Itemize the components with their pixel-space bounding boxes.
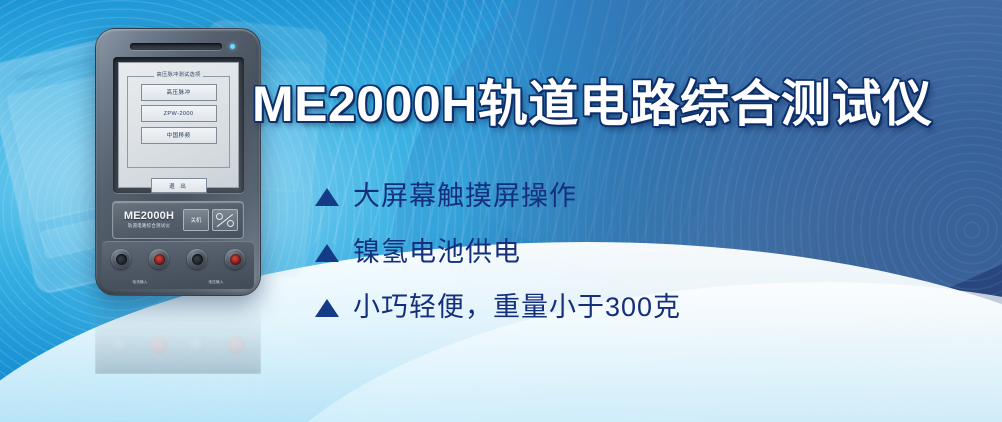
jack-label-row: 电流输入 电压输入 (102, 280, 254, 285)
lcd-button-high-voltage-pulse[interactable]: 高压脉冲 (141, 84, 217, 101)
jack-current-input-positive[interactable] (149, 249, 169, 269)
jack-voltage-input-negative[interactable] (187, 249, 207, 269)
lcd-screen[interactable]: 高压脉冲测试选项 高压脉冲 ZPW-2000 中国移频 退 出 (118, 62, 239, 188)
feature-item-3-label: 小巧轻便，重量小于300克 (353, 293, 681, 323)
feature-list: 大屏幕触摸屏操作 镍氢电池供电 小巧轻便，重量小于300克 (315, 182, 875, 349)
triangle-up-icon (315, 244, 339, 262)
jack-hole (192, 254, 203, 265)
lcd-button-china-frequency-shift[interactable]: 中国移频 (141, 127, 217, 144)
device-label-plate: ME2000H 轨道电路综合测试仪 关机 (112, 201, 244, 239)
device-model-text: ME2000H (118, 211, 180, 222)
lcd-bezel: 高压脉冲测试选项 高压脉冲 ZPW-2000 中国移频 退 出 (113, 57, 244, 193)
triangle-up-icon (315, 188, 339, 206)
jack-voltage-input-positive[interactable] (225, 249, 245, 269)
feature-item-1-label: 大屏幕触摸屏操作 (353, 182, 577, 212)
triangle-up-icon (315, 299, 339, 317)
page-title: ME2000H轨道电路综合测试仪 (252, 79, 932, 129)
jack-label-current-input: 电流输入 (108, 280, 172, 285)
feature-item-2-label: 镍氢电池供电 (353, 238, 521, 268)
device-subtitle-text: 轨道电路综合测试仪 (118, 224, 180, 228)
feature-item-1: 大屏幕触摸屏操作 (315, 182, 875, 212)
product-device-image: 高压脉冲测试选项 高压脉冲 ZPW-2000 中国移频 退 出 ME2000H … (95, 28, 261, 296)
jack-label-voltage-input: 电压输入 (184, 280, 248, 285)
device-brand-block: ME2000H 轨道电路综合测试仪 (118, 211, 180, 228)
jack-current-input-negative[interactable] (111, 249, 131, 269)
device-jack-panel: 电流输入 电压输入 (102, 241, 254, 289)
icon-dot-upper (216, 213, 223, 220)
feature-item-3: 小巧轻便，重量小于300克 (315, 293, 875, 323)
lcd-group-title: 高压脉冲测试选项 (154, 71, 204, 78)
device-body: 高压脉冲测试选项 高压脉冲 ZPW-2000 中国移频 退 出 ME2000H … (95, 28, 261, 296)
jack-hole (230, 254, 241, 265)
lcd-option-group: 高压脉冲测试选项 高压脉冲 ZPW-2000 中国移频 (127, 76, 230, 168)
feature-item-2: 镍氢电池供电 (315, 238, 875, 268)
power-led-indicator (230, 44, 235, 49)
icon-dot-lower (227, 220, 234, 227)
brightness-contrast-icon[interactable] (212, 209, 238, 231)
jack-hole (154, 254, 165, 265)
lcd-button-zpw-2000[interactable]: ZPW-2000 (141, 105, 217, 122)
lcd-button-exit[interactable]: 退 出 (151, 178, 207, 193)
speaker-slot (130, 43, 222, 50)
product-banner: 高压脉冲测试选项 高压脉冲 ZPW-2000 中国移频 退 出 ME2000H … (0, 0, 1002, 422)
device-power-off-button[interactable]: 关机 (183, 209, 209, 231)
jack-hole (116, 254, 127, 265)
